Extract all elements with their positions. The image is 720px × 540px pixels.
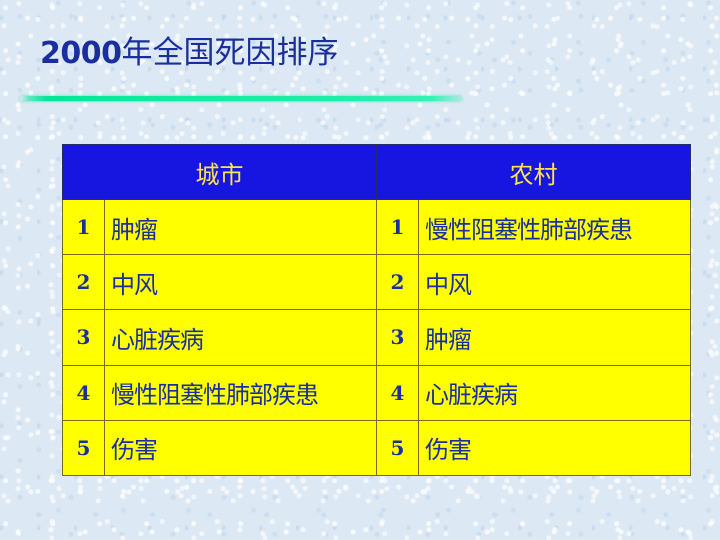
column-header-rural: 农村 bbox=[377, 145, 691, 200]
title-underline-rule bbox=[20, 96, 462, 101]
page-title-text: 年全国死因排序 bbox=[122, 35, 339, 71]
slide-canvas: 2000年全国死因排序 城市 农村 1 肿瘤 1 慢性阻塞性肺部疾患 2 中风 … bbox=[0, 0, 720, 540]
table-row: 1 肿瘤 1 慢性阻塞性肺部疾患 bbox=[63, 200, 691, 255]
urban-rank: 2 bbox=[63, 255, 105, 310]
column-header-urban: 城市 bbox=[63, 145, 377, 200]
rural-cause: 肿瘤 bbox=[419, 310, 691, 365]
urban-rank: 4 bbox=[63, 365, 105, 420]
mortality-rank-table: 城市 农村 1 肿瘤 1 慢性阻塞性肺部疾患 2 中风 2 中风 3 心脏疾病 … bbox=[62, 144, 691, 476]
table-row: 2 中风 2 中风 bbox=[63, 255, 691, 310]
rural-cause: 心脏疾病 bbox=[419, 365, 691, 420]
page-title: 2000年全国死因排序 bbox=[40, 34, 339, 73]
urban-cause: 中风 bbox=[105, 255, 377, 310]
rural-cause: 慢性阻塞性肺部疾患 bbox=[419, 200, 691, 255]
urban-cause: 肿瘤 bbox=[105, 200, 377, 255]
rural-cause: 伤害 bbox=[419, 420, 691, 475]
rural-cause: 中风 bbox=[419, 255, 691, 310]
rural-rank: 1 bbox=[377, 200, 419, 255]
table-row: 5 伤害 5 伤害 bbox=[63, 420, 691, 475]
rural-rank: 3 bbox=[377, 310, 419, 365]
urban-rank: 3 bbox=[63, 310, 105, 365]
table-header-row: 城市 农村 bbox=[63, 145, 691, 200]
page-title-year: 2000 bbox=[40, 36, 122, 71]
table-row: 3 心脏疾病 3 肿瘤 bbox=[63, 310, 691, 365]
urban-cause: 伤害 bbox=[105, 420, 377, 475]
urban-cause: 心脏疾病 bbox=[105, 310, 377, 365]
urban-cause: 慢性阻塞性肺部疾患 bbox=[105, 365, 377, 420]
rural-rank: 4 bbox=[377, 365, 419, 420]
urban-rank: 5 bbox=[63, 420, 105, 475]
table-row: 4 慢性阻塞性肺部疾患 4 心脏疾病 bbox=[63, 365, 691, 420]
rural-rank: 5 bbox=[377, 420, 419, 475]
rural-rank: 2 bbox=[377, 255, 419, 310]
urban-rank: 1 bbox=[63, 200, 105, 255]
